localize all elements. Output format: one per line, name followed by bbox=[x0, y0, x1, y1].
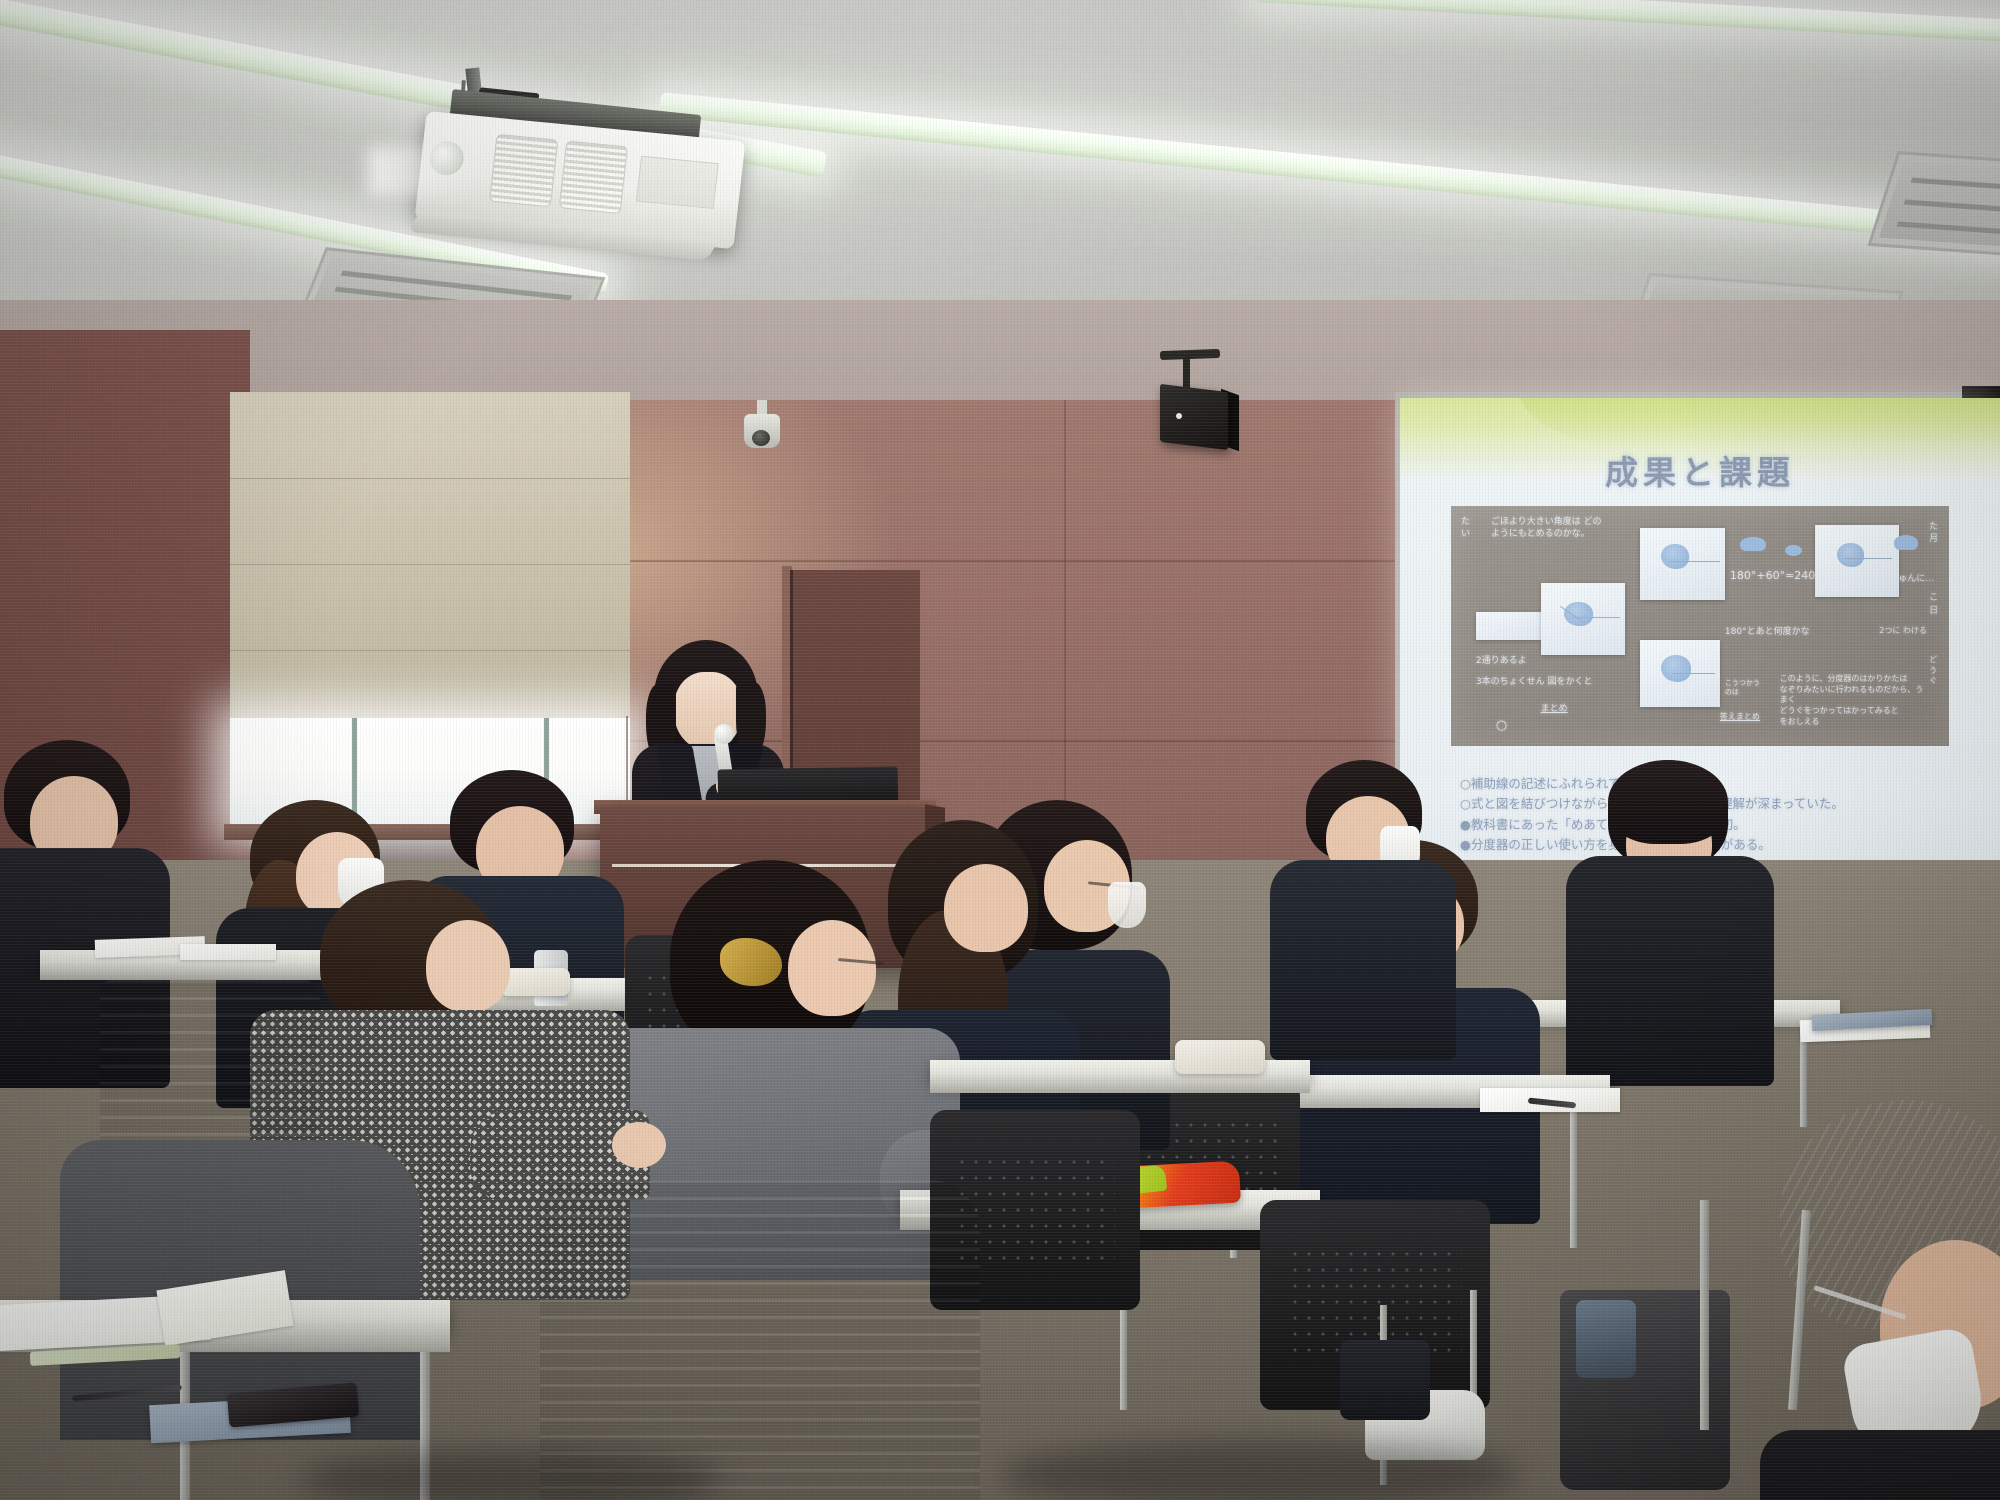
speaker-indicator bbox=[1176, 413, 1182, 419]
head bbox=[788, 920, 876, 1016]
wall-speaker bbox=[1160, 384, 1228, 450]
slide-arc-shape bbox=[1785, 545, 1802, 556]
slide-diagram-card bbox=[1541, 583, 1626, 655]
backpack-pocket bbox=[1576, 1300, 1636, 1378]
hair-top bbox=[1608, 760, 1728, 844]
slide-diagram-card bbox=[1815, 525, 1900, 597]
torso bbox=[1760, 1430, 2000, 1500]
slide-arc-shape bbox=[1894, 535, 1918, 550]
desk-edge bbox=[930, 1082, 1310, 1093]
slide-arc-shape bbox=[1740, 537, 1766, 551]
face-mask bbox=[1108, 882, 1146, 928]
microphone-head-icon bbox=[714, 724, 734, 744]
seminar-room-photo: 成果と課題 たい ごほより大きい角度は どのようにもとめるのかな。 補助線 bbox=[0, 0, 2000, 1500]
slide-diagram-card bbox=[1640, 528, 1725, 600]
window-blind[interactable] bbox=[230, 392, 630, 722]
trouser-leg bbox=[1340, 1340, 1430, 1420]
foreground-puffy-jacket bbox=[540, 1180, 980, 1500]
ceiling-projector bbox=[420, 68, 750, 238]
projector-label-plate bbox=[636, 156, 719, 209]
wall-seam bbox=[540, 560, 1420, 562]
attendee-hand bbox=[612, 1122, 666, 1168]
security-camera-lens bbox=[752, 430, 770, 446]
pencil-pouch bbox=[1175, 1040, 1265, 1074]
chair-leg bbox=[1700, 1200, 1709, 1430]
attendee-masked-man-right bbox=[1270, 760, 1460, 1060]
projector-vent-grille bbox=[489, 134, 558, 208]
projector-vent-grille bbox=[559, 141, 628, 215]
slide-title: 成果と課題 bbox=[1400, 446, 2000, 494]
torso bbox=[1270, 860, 1456, 1060]
projector-light-glow bbox=[368, 146, 478, 196]
slide-blackboard-photo: たい ごほより大きい角度は どのようにもとめるのかな。 補助線 180°+60°… bbox=[1451, 506, 1949, 745]
head bbox=[426, 920, 510, 1012]
slide-diagram-card bbox=[1640, 640, 1720, 707]
attendee-far-right-man bbox=[1560, 760, 1780, 1090]
torso bbox=[1566, 856, 1774, 1086]
desk-leg bbox=[1570, 1108, 1577, 1248]
